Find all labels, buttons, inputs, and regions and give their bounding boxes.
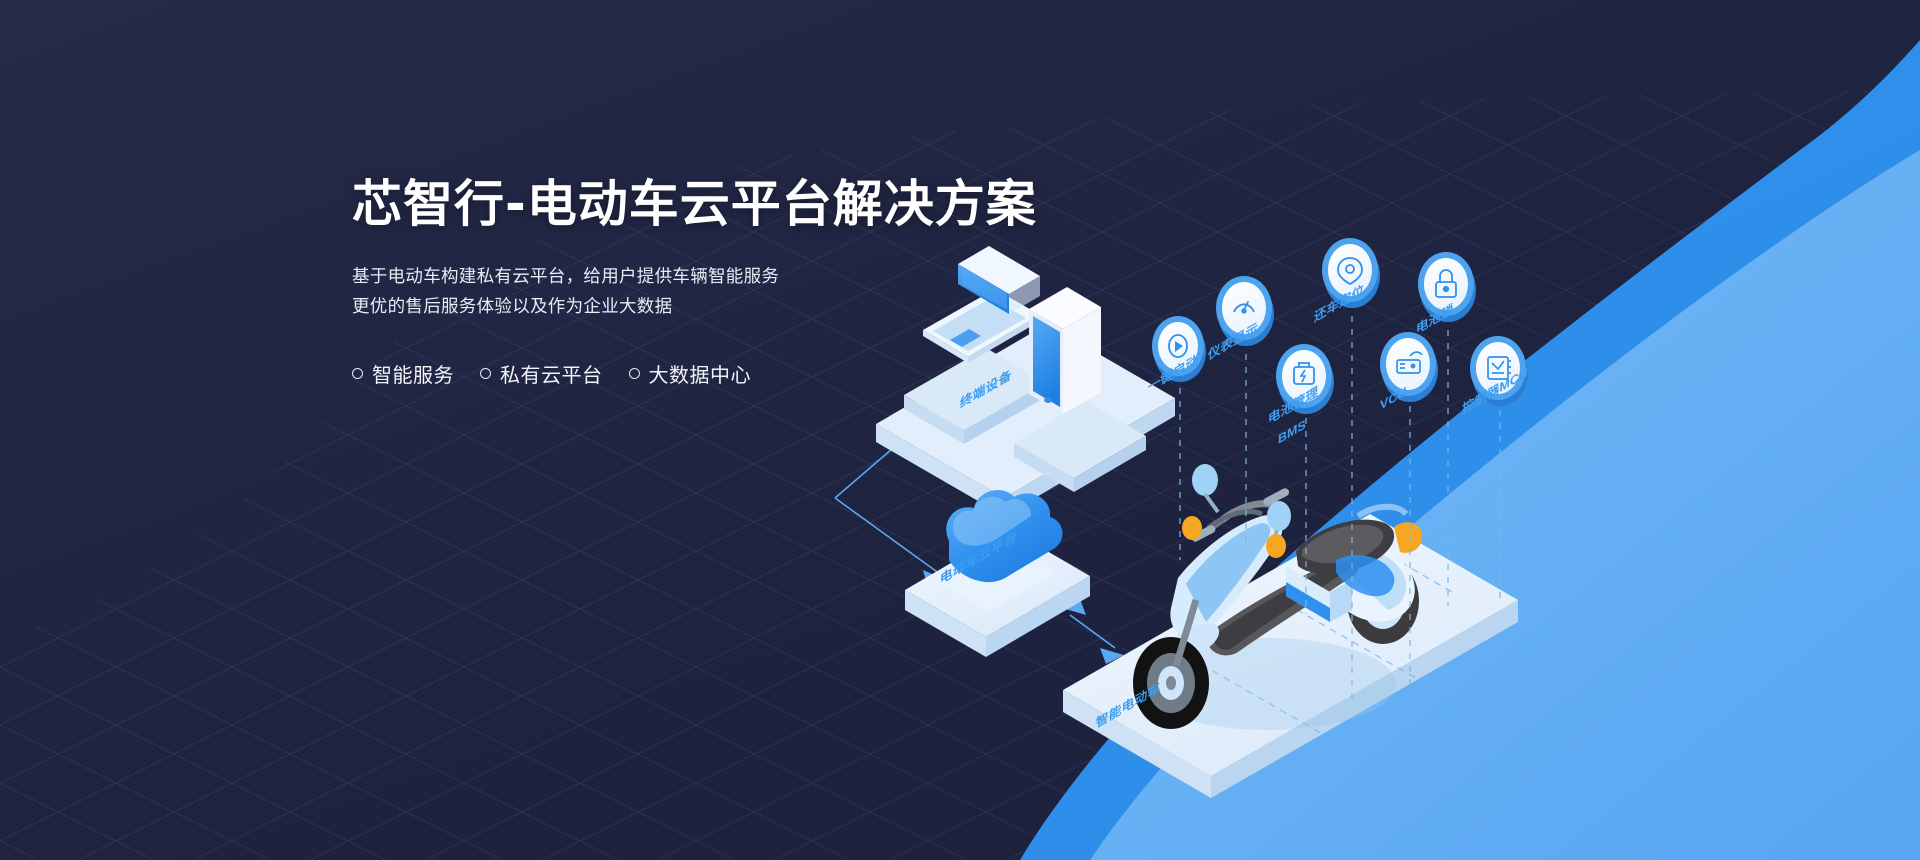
badge-bms[interactable]: 电池管理 BMS [1268,344,1334,447]
phone-icon [1029,287,1101,414]
node-smart-ev[interactable]: 智能电动车 [1063,464,1518,798]
badge-label-secondary: BMS [1278,417,1306,447]
isometric-illustration: 终端设备 电动车云平台 [0,0,1920,860]
badge-mcu[interactable]: 控制器MCU [1462,336,1528,417]
badge-return-locate[interactable]: 还车定位 [1313,238,1380,325]
node-terminal-devices[interactable]: 终端设备 [876,246,1175,516]
badge-one-key-start[interactable]: 一键启动 [1148,316,1206,395]
node-cloud-platform[interactable]: 电动车云平台 [905,490,1090,657]
badge-dashboard[interactable]: 仪表显示 [1207,276,1274,363]
badge-battery-lock[interactable]: 电池锁 [1416,252,1476,337]
badge-vcu[interactable]: VCU [1380,332,1438,413]
hero-banner: 芯智行-电动车云平台解决方案 基于电动车构建私有云平台，给用户提供车辆智能服务 … [0,0,1920,860]
